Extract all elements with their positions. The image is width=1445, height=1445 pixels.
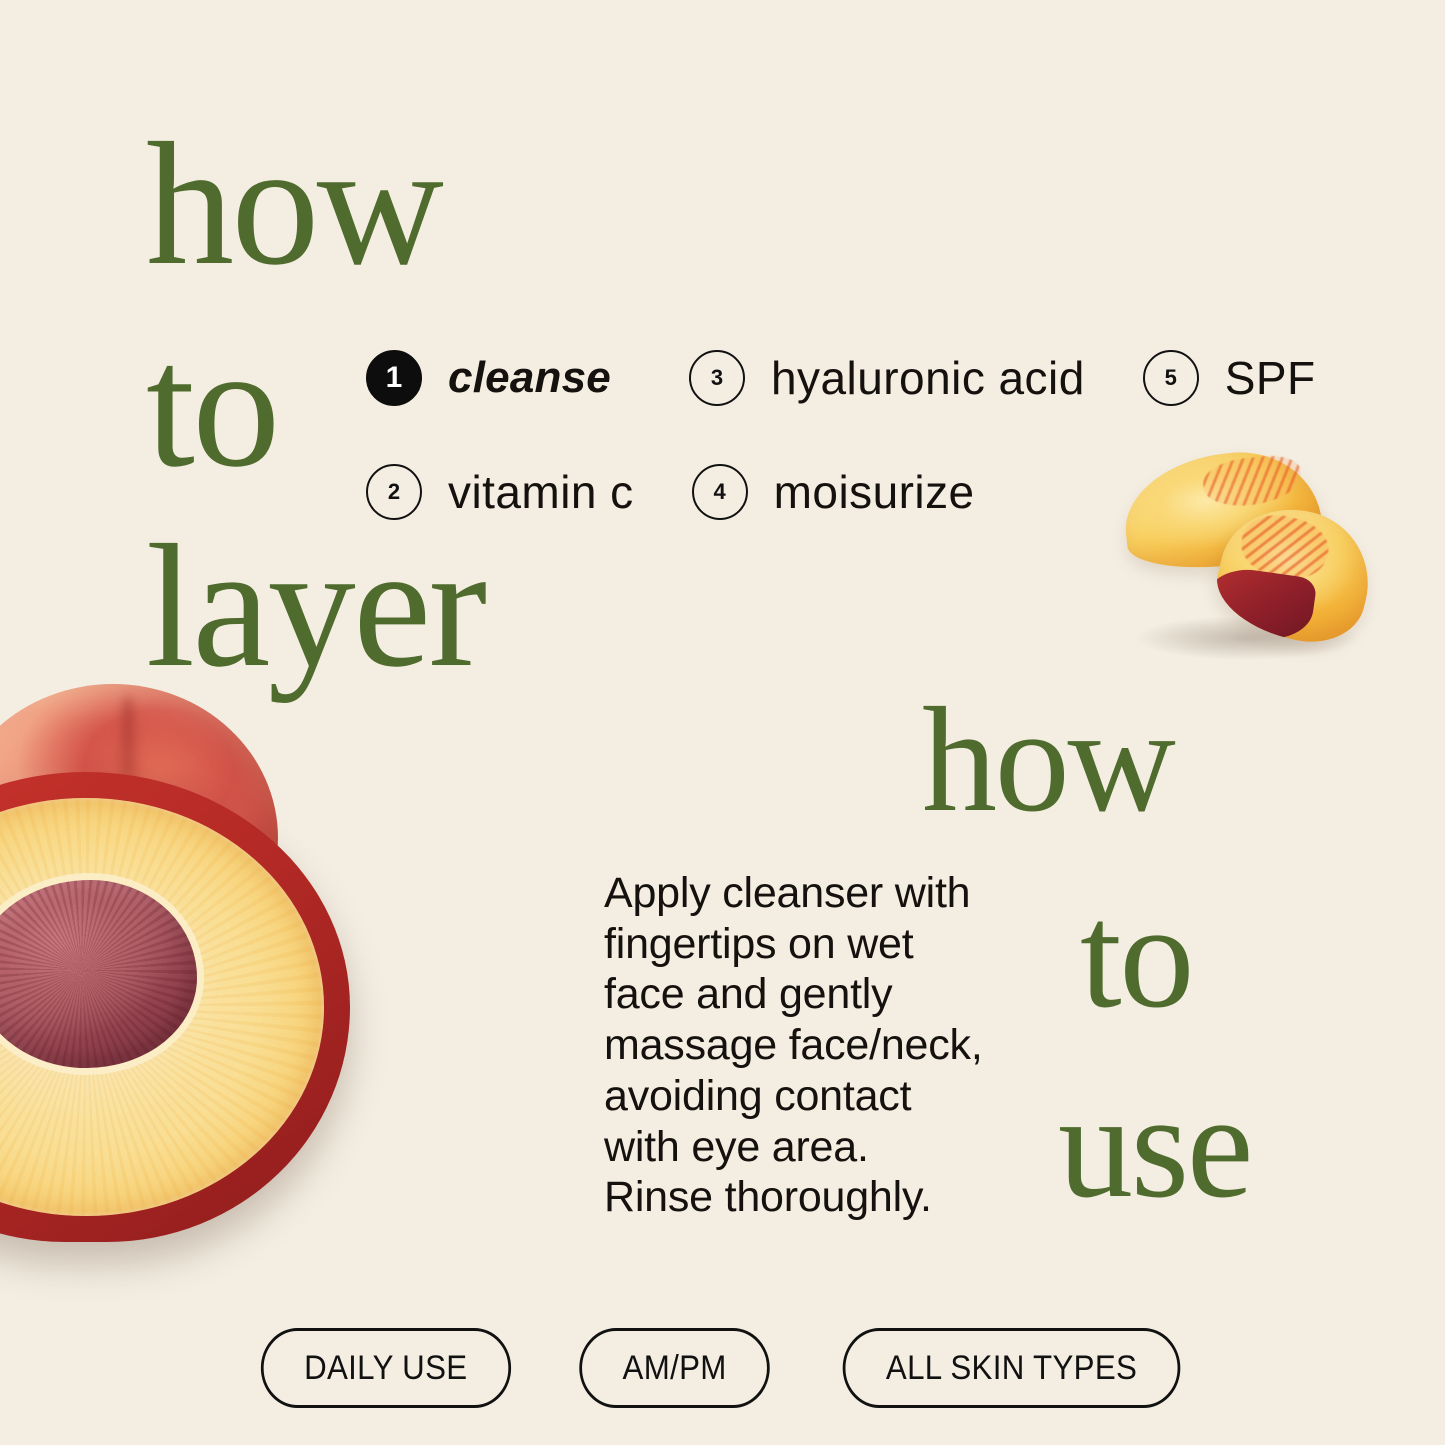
- instruction-line: fingertips on wet: [604, 919, 1104, 970]
- heading-layer-line3: layer: [146, 530, 485, 685]
- heading-layer-line1: how: [146, 128, 441, 283]
- heading-layer-line2: to: [146, 330, 278, 485]
- halved-peach-image: [0, 676, 470, 1316]
- infographic-canvas: how to layer how to use 1 cleanse 3 hyal…: [0, 0, 1445, 1445]
- attribute-pills: DAILY USE AM/PM ALL SKIN TYPES: [0, 1328, 1445, 1408]
- pill-all-skin-types[interactable]: ALL SKIN TYPES: [843, 1328, 1181, 1408]
- instruction-line: with eye area.: [604, 1122, 1104, 1173]
- step-badge-1: 1: [366, 350, 422, 406]
- steps-row-1: 1 cleanse 3 hyaluronic acid 5 SPF: [366, 340, 1376, 416]
- step-label-hyaluronic-acid: hyaluronic acid: [771, 351, 1085, 405]
- peach-half: [0, 772, 350, 1242]
- pill-am-pm[interactable]: AM/PM: [579, 1328, 770, 1408]
- instruction-line: Rinse thoroughly.: [604, 1172, 1104, 1223]
- step-item-vitamin-c[interactable]: 2 vitamin c: [366, 464, 634, 520]
- step-badge-5: 5: [1143, 350, 1199, 406]
- step-item-cleanse[interactable]: 1 cleanse: [366, 350, 611, 406]
- instruction-line: face and gently: [604, 969, 1104, 1020]
- step-label-cleanse: cleanse: [448, 353, 611, 403]
- peach-slice-skin: [1207, 564, 1318, 645]
- instruction-line: Apply cleanser with: [604, 868, 1104, 919]
- step-label-spf: SPF: [1225, 351, 1316, 405]
- peach-slice-fiber: [1201, 452, 1303, 509]
- heading-use-line1: how: [922, 694, 1174, 826]
- step-label-vitamin-c: vitamin c: [448, 465, 634, 519]
- usage-instructions: Apply cleanser with fingertips on wet fa…: [604, 868, 1104, 1223]
- step-item-moisurize[interactable]: 4 moisurize: [692, 464, 975, 520]
- instruction-line: avoiding contact: [604, 1071, 1104, 1122]
- step-badge-3: 3: [689, 350, 745, 406]
- step-badge-4: 4: [692, 464, 748, 520]
- step-item-hyaluronic-acid[interactable]: 3 hyaluronic acid: [689, 350, 1085, 406]
- peach-slices-image: [1118, 448, 1378, 648]
- step-label-moisurize: moisurize: [774, 465, 975, 519]
- step-badge-2: 2: [366, 464, 422, 520]
- pill-daily-use[interactable]: DAILY USE: [260, 1328, 510, 1408]
- step-item-spf[interactable]: 5 SPF: [1143, 350, 1316, 406]
- instruction-line: massage face/neck,: [604, 1020, 1104, 1071]
